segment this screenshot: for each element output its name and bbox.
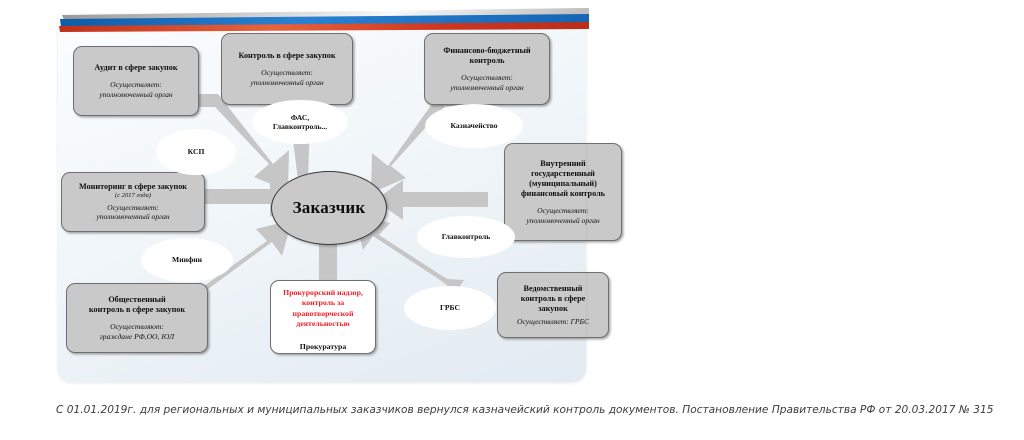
box-public-sub-line2: граждане РФ,ОО, ЮЛ <box>72 332 202 341</box>
box-control-sub-line1: Осуществляет: <box>227 68 347 77</box>
label-ellipse-ksp: КСП <box>156 129 236 175</box>
box-prosecutor-title-line1: Прокурорский надзор, <box>276 288 370 298</box>
box-internal-state-financial-control[interactable]: Внутренний государственный (муниципальны… <box>504 143 622 241</box>
box-prosecutor-title: Прокурорский надзор, контроль за правотв… <box>276 288 370 329</box>
box-prosecutor-title-line4: деятельностью <box>276 319 370 329</box>
label-treasury-text: Казначейство <box>450 121 497 130</box>
box-monitoring-note: (с 2017 года) <box>67 192 199 200</box>
label-fas-line1: ФАС, <box>273 113 327 122</box>
label-minfin-text: Минфин <box>172 255 202 264</box>
label-ksp-text: КСП <box>188 147 205 156</box>
arrow-internal <box>375 180 488 220</box>
box-public-title: Общественный контроль в сфере закупок <box>72 295 202 315</box>
box-departmental-subtitle: Осуществляет: ГРБС <box>503 317 603 326</box>
box-finbudget-title-line1: Финансово-бюджетный <box>430 46 544 56</box>
box-control-subtitle: Осуществляет: уполномоченный орган <box>227 68 347 86</box>
box-audit[interactable]: Аудит в сфере закупок Осуществляет: упол… <box>73 46 199 116</box>
box-public-title-line1: Общественный <box>72 295 202 305</box>
box-prosecutor-title-line2: контроль за <box>276 298 370 308</box>
box-prosecutor-title-line3: правотворческой <box>276 309 370 319</box>
box-finbudget-subtitle: Осуществляет: уполномоченный орган <box>430 73 544 91</box>
label-ellipse-grbs: ГРБС <box>404 286 496 330</box>
box-monitoring[interactable]: Мониторинг в сфере закупок (с 2017 года)… <box>61 172 205 232</box>
box-monitoring-sub-line1: Осуществляет: <box>67 203 199 212</box>
box-internal-title: Внутренний государственный (муниципальны… <box>510 159 616 199</box>
box-control-sub-line2: уполномоченный орган <box>227 78 347 87</box>
box-departmental-sub-line1: Осуществляет: ГРБС <box>503 317 603 326</box>
label-fas-line2: Главконтроль... <box>273 122 327 131</box>
box-monitoring-subtitle: Осуществляет: уполномоченный орган <box>67 203 199 221</box>
box-finbudget-title: Финансово-бюджетный контроль <box>430 46 544 66</box>
label-glavkontrol-text: Главконтроль <box>442 232 491 241</box>
box-internal-title-line1: Внутренний <box>510 159 616 169</box>
box-departmental-title-line1: Ведомственный <box>503 284 603 294</box>
box-public-title-line2: контроль в сфере закупок <box>72 305 202 315</box>
box-monitoring-title: Мониторинг в сфере закупок <box>67 182 199 192</box>
box-audit-title: Аудит в сфере закупок <box>79 63 193 73</box>
box-public-control[interactable]: Общественный контроль в сфере закупок Ос… <box>66 283 208 353</box>
box-internal-subtitle: Осуществляет: уполномоченный орган <box>510 206 616 224</box>
box-internal-title-line3: (муниципальный) <box>510 179 616 189</box>
box-public-subtitle: Осуществляют: граждане РФ,ОО, ЮЛ <box>72 322 202 340</box>
center-node-customer[interactable]: Заказчик <box>271 171 387 245</box>
box-audit-sub-line2: уполномоченный орган <box>79 90 193 99</box>
box-public-sub-line1: Осуществляют: <box>72 322 202 331</box>
slide-canvas: Аудит в сфере закупок Осуществляет: упол… <box>0 0 1024 440</box>
label-ellipse-minfin: Минфин <box>141 238 233 282</box>
box-departmental-title-line2: контроль в сфере <box>503 294 603 304</box>
box-monitoring-sub-line2: уполномоченный орган <box>67 212 199 221</box>
label-ellipse-treasury: Казначейство <box>425 104 523 148</box>
box-internal-title-line4: финансовый контроль <box>510 189 616 199</box>
label-grbs-text: ГРБС <box>440 303 460 312</box>
center-node-label: Заказчик <box>293 198 366 218</box>
box-finbudget-title-line2: контроль <box>430 56 544 66</box>
box-internal-title-line2: государственный <box>510 169 616 179</box>
label-ellipse-glavkontrol: Главконтроль <box>417 216 515 258</box>
box-prosecutor-supervision[interactable]: Прокурорский надзор, контроль за правотв… <box>270 280 376 354</box>
box-departmental-control[interactable]: Ведомственный контроль в сфере закупок О… <box>497 272 609 338</box>
box-control-title: Контроль в сфере закупок <box>227 51 347 61</box>
box-finbudget-sub-line1: Осуществляет: <box>430 73 544 82</box>
box-departmental-title-line3: закупок <box>503 304 603 314</box>
box-financial-budget-control[interactable]: Финансово-бюджетный контроль Осуществляе… <box>424 33 550 105</box>
box-audit-sub-line1: Осуществляет: <box>79 80 193 89</box>
box-departmental-title: Ведомственный контроль в сфере закупок <box>503 284 603 314</box>
box-prosecutor-organ: Прокуратура <box>276 342 370 351</box>
box-control[interactable]: Контроль в сфере закупок Осуществляет: у… <box>221 33 353 105</box>
box-internal-sub-line2: уполномоченный орган <box>510 216 616 225</box>
box-internal-sub-line1: Осуществляет: <box>510 206 616 215</box>
box-audit-subtitle: Осуществляет: уполномоченный орган <box>79 80 193 98</box>
slide-caption: С 01.01.2019г. для региональных и муници… <box>56 404 996 416</box>
box-finbudget-sub-line2: уполномоченный орган <box>430 83 544 92</box>
label-fas-text: ФАС, Главконтроль... <box>273 113 327 131</box>
label-ellipse-fas: ФАС, Главконтроль... <box>252 100 348 144</box>
